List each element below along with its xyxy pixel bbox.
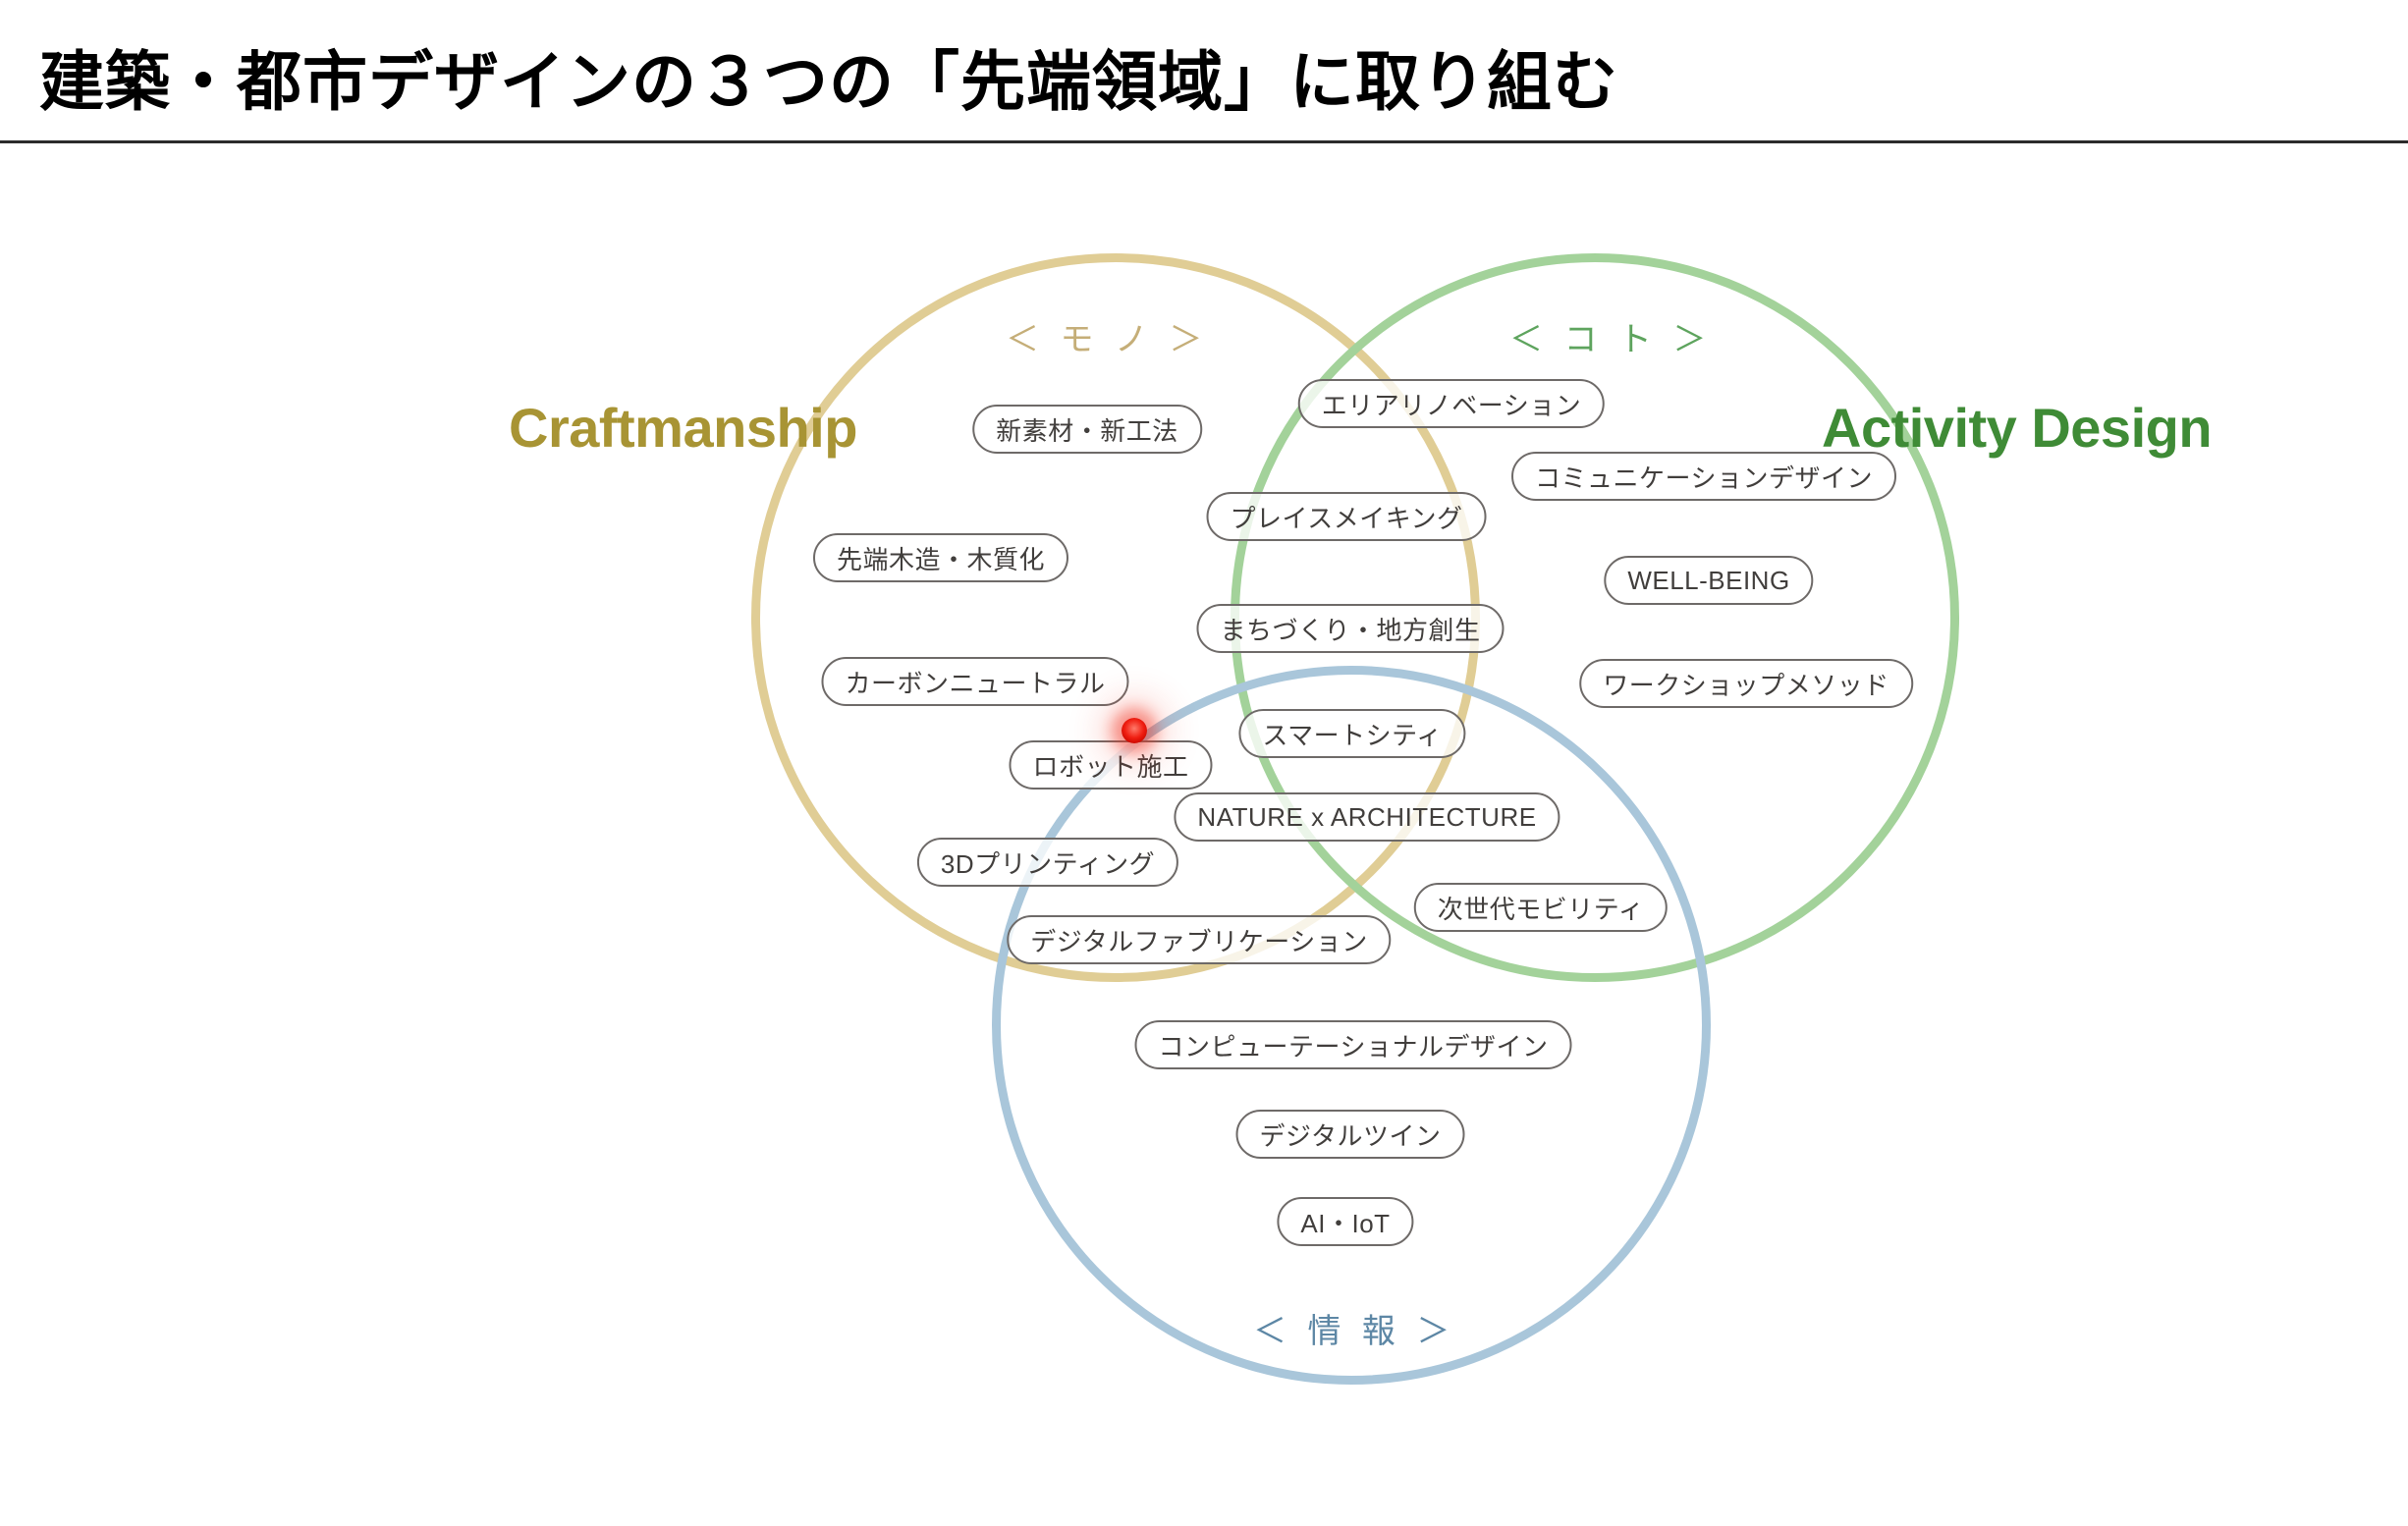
keyword-pill[interactable]: コンピューテーショナルデザイン — [1135, 1020, 1572, 1069]
domain-title-craftmanship: Craftmanship — [509, 396, 857, 460]
keyword-pill[interactable]: ワークショップメソッド — [1579, 659, 1913, 708]
slide-root: 建築・都市デザインの３つの「先端領域」に取り組む Craftmanship Ac… — [0, 0, 2408, 1526]
keyword-pill[interactable]: NATURE x ARCHITECTURE — [1174, 792, 1560, 842]
keyword-pill[interactable]: プレイスメイキング — [1207, 492, 1487, 541]
keyword-pill[interactable]: カーボンニュートラル — [821, 657, 1128, 706]
keyword-pill[interactable]: ロボット施工 — [1009, 740, 1212, 790]
keyword-pill[interactable]: デジタルツイン — [1236, 1110, 1465, 1159]
keyword-pill[interactable]: まちづくり・地方創生 — [1196, 604, 1504, 653]
title-bar: 建築・都市デザインの３つの「先端領域」に取り組む — [0, 0, 2408, 145]
venn-diagram: Craftmanship Activity Design Digital Tec… — [0, 145, 2408, 1526]
keyword-pill[interactable]: エリアリノベーション — [1298, 379, 1605, 428]
keyword-pill[interactable]: デジタルファブリケーション — [1007, 915, 1391, 964]
keyword-pill[interactable]: スマートシティ — [1238, 709, 1465, 758]
keyword-pill[interactable]: AI・IoT — [1277, 1197, 1413, 1246]
keyword-pill[interactable]: 新素材・新工法 — [972, 405, 1202, 454]
domain-title-activity-design: Activity Design — [1822, 396, 2212, 460]
domain-subtitle-mono: ＜ モ ノ ＞ — [1006, 312, 1208, 360]
keyword-pill[interactable]: 先端木造・木質化 — [813, 533, 1068, 582]
domain-subtitle-joho: ＜ 情 報 ＞ — [1253, 1304, 1455, 1352]
domain-subtitle-koto: ＜ コ ト ＞ — [1509, 312, 1712, 360]
keyword-pill[interactable]: 次世代モビリティ — [1414, 883, 1668, 932]
page-title: 建築・都市デザインの３つの「先端領域」に取り組む — [39, 29, 1618, 124]
title-divider — [0, 140, 2408, 143]
keyword-pill[interactable]: WELL-BEING — [1604, 556, 1813, 605]
keyword-pill[interactable]: コミュニケーションデザイン — [1511, 452, 1896, 501]
keyword-pill[interactable]: 3Dプリンティング — [917, 838, 1178, 887]
